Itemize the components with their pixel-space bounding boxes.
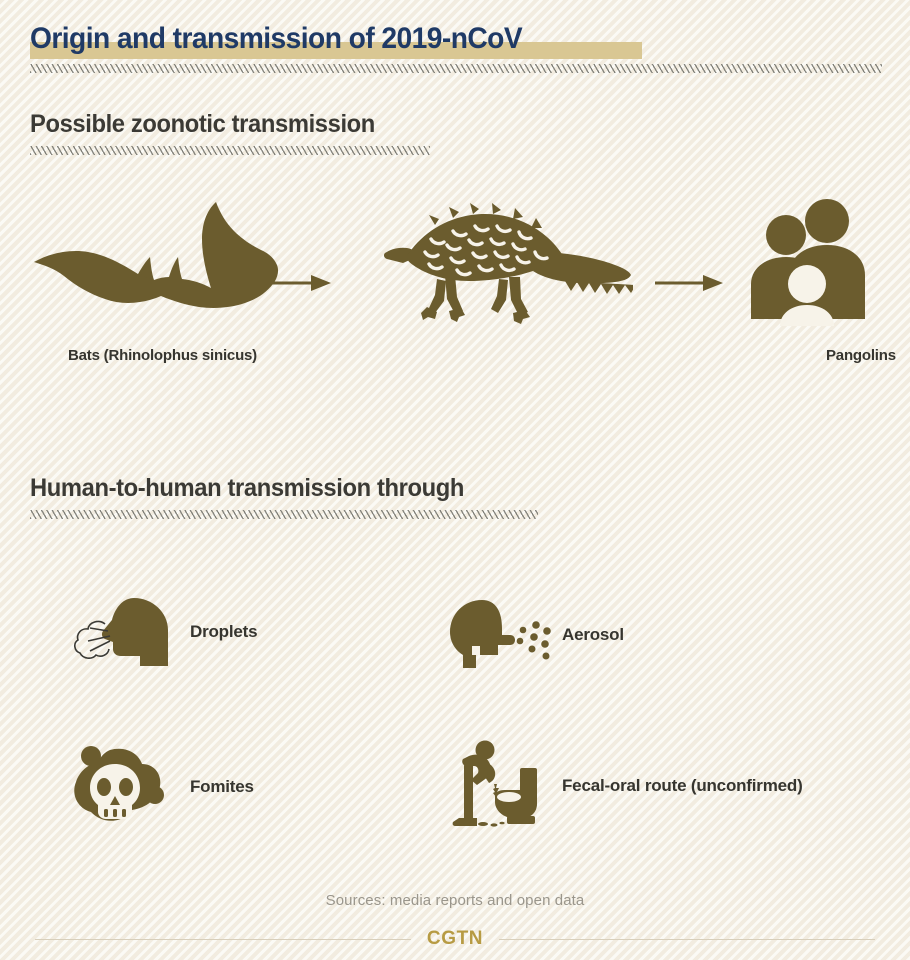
arrow-right-icon (263, 272, 331, 294)
mode-fecal-oral (447, 740, 557, 835)
chain-step-humans: Humans (745, 195, 880, 340)
pangolin-icon (383, 195, 633, 340)
sources-text: Sources: media reports and open data (0, 892, 910, 909)
section-heading-zoonotic: Possible zoonotic transmission (30, 110, 375, 139)
mode-fecal-oral-label: Fecal-oral route (unconfirmed) (562, 776, 803, 796)
chain-step-bats: Bats (Rhinolophus sinicus) (30, 195, 285, 340)
mode-droplets (72, 596, 177, 676)
page-title: Origin and transmission of 2019-nCoV (30, 20, 554, 62)
mode-aerosol-label: Aerosol (562, 625, 624, 645)
humans-family-icon (745, 195, 880, 340)
mode-droplets-label: Droplets (190, 622, 257, 642)
mode-fomites-label: Fomites (190, 777, 254, 797)
bat-icon (30, 195, 285, 340)
footer-rule-left (35, 939, 411, 940)
section-heading-human-to-human: Human-to-human transmission through (30, 474, 464, 503)
germ-skull-icon (70, 742, 175, 827)
page-title-text: Origin and transmission of 2019-nCoV (30, 20, 522, 58)
zoonotic-chain-row: Bats (Rhinolophus sinicus) (0, 195, 910, 385)
head-coughing-droplets-icon (72, 596, 177, 671)
infographic-page: Origin and transmission of 2019-nCoV Pos… (0, 0, 910, 960)
chain-step-bats-label: Bats (Rhinolophus sinicus) (68, 347, 257, 364)
head-aerosol-particles-icon (450, 598, 555, 670)
footer-brand-row: CGTN (35, 928, 875, 950)
section-2-hatched-divider (30, 510, 538, 519)
chain-step-pangolins-label: Pangolins (826, 347, 896, 364)
chain-step-pangolins: Pangolins (383, 195, 633, 340)
mode-aerosol (450, 598, 555, 675)
section-1-hatched-divider (30, 146, 430, 155)
brand-logo: CGTN (427, 928, 483, 950)
person-vomiting-toilet-icon (447, 740, 557, 830)
arrow-right-icon-2 (655, 272, 723, 294)
footer-rule-right (499, 939, 875, 940)
mode-fomites (70, 742, 175, 832)
title-hatched-divider (30, 64, 882, 73)
